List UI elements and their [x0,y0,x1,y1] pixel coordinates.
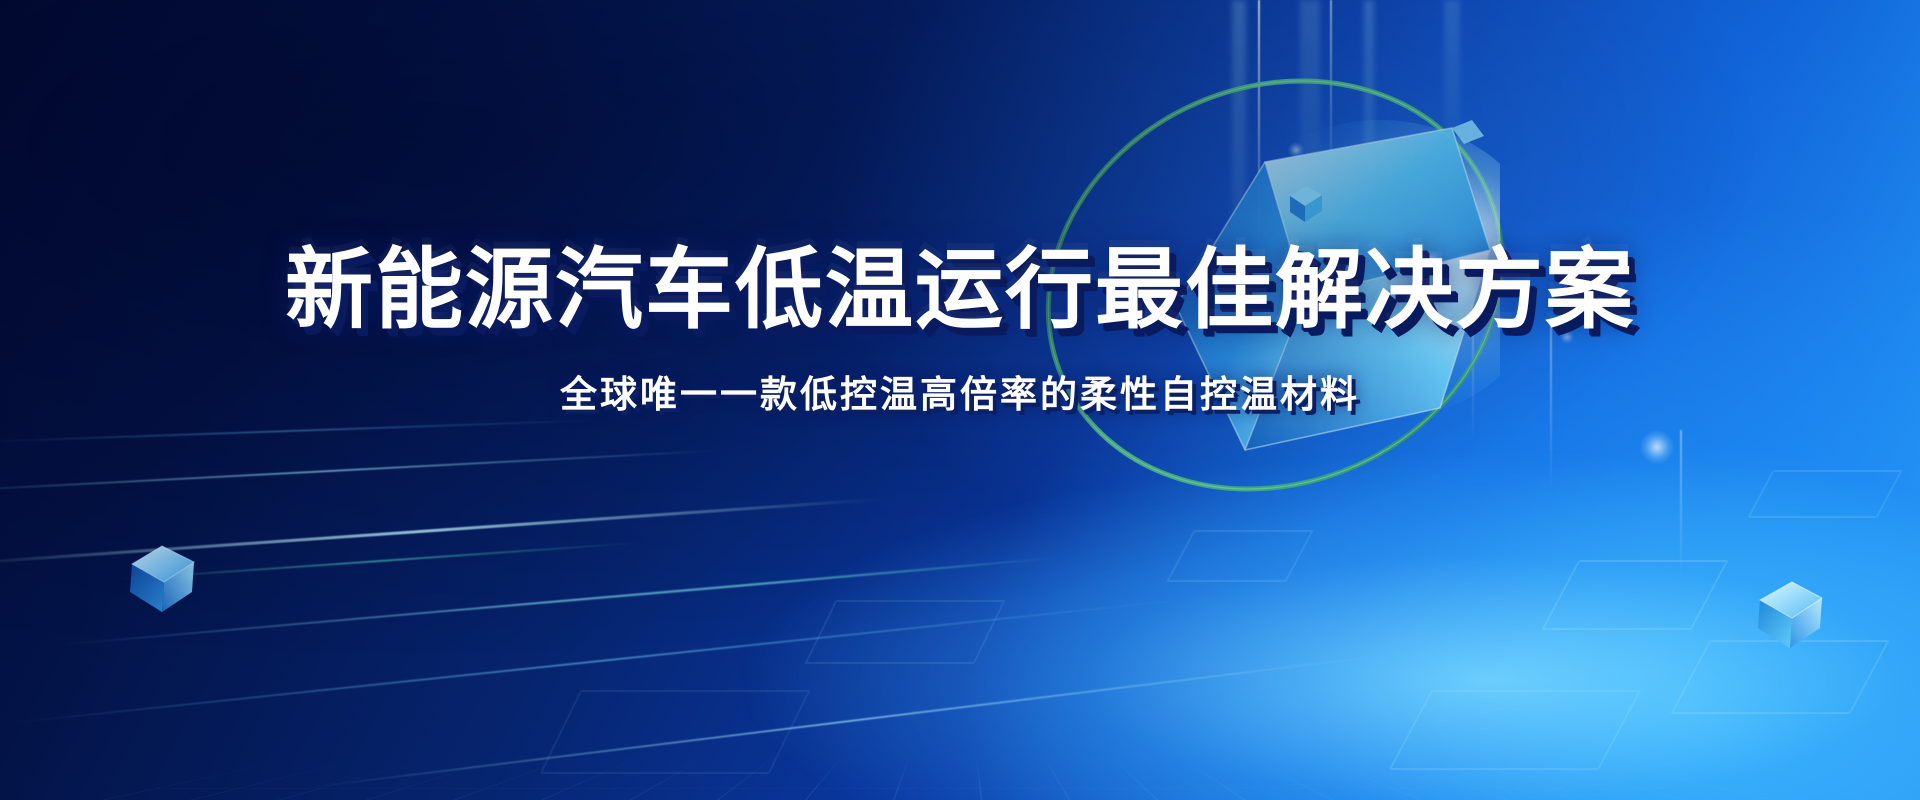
banner-subtitle: 全球唯一一款低控温高倍率的柔性自控温材料 [560,364,1360,418]
banner-text-block: 新能源汽车低温运行最佳解决方案 新能源汽车低温运行最佳解决方案 全球唯一一款低控… [0,0,1920,800]
ghost-title: 新能源汽车低温运行最佳解决方案 [285,212,1635,339]
hero-banner: 新能源汽车低温运行最佳解决方案 新能源汽车低温运行最佳解决方案 全球唯一一款低控… [0,0,1920,800]
